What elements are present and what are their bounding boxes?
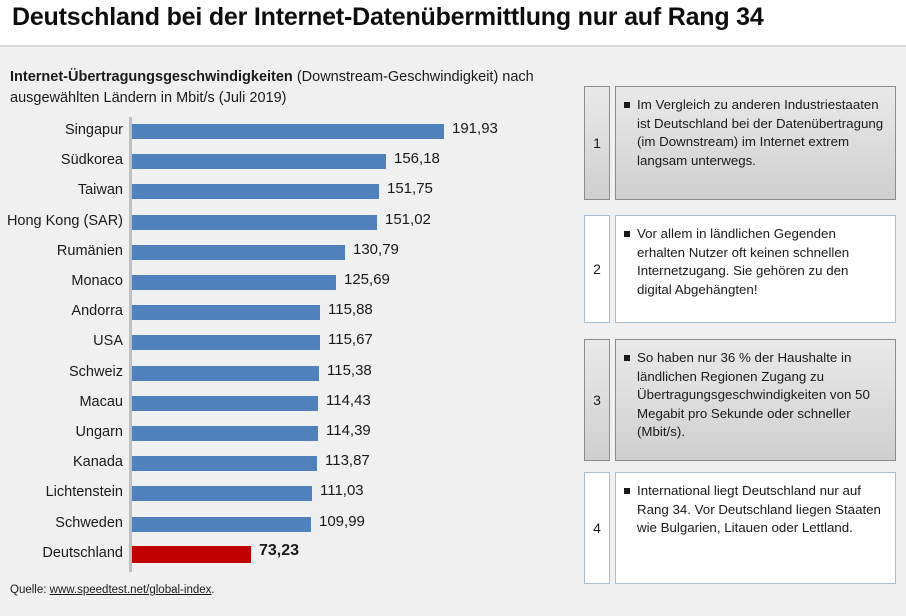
bar (132, 215, 377, 230)
title-band: Deutschland bei der Internet-Datenübermi… (0, 0, 906, 47)
bar-value-label: 115,88 (328, 301, 373, 318)
bar-category-label: Macau (0, 394, 123, 410)
chart-panel: Internet-Übertragungsgeschwindigkeiten (… (0, 47, 578, 616)
bar-value-label: 151,75 (387, 180, 433, 197)
bar-row: Monaco125,69 (0, 268, 578, 298)
note-body: International liegt Deutschland nur auf … (615, 472, 896, 584)
bar (132, 366, 319, 381)
note-text: Im Vergleich zu anderen Industriestaaten… (637, 96, 886, 170)
bar-row: Südkorea156,18 (0, 147, 578, 177)
bar-row: Andorra115,88 (0, 298, 578, 328)
bar (132, 486, 312, 501)
bar-value-label: 114,39 (326, 422, 371, 439)
note-box-4: 4International liegt Deutschland nur auf… (584, 472, 896, 584)
chart-heading-strong: Internet-Übertragungsgeschwindigkeiten (10, 69, 293, 85)
bar-category-label: Schweden (0, 515, 123, 531)
square-bullet-icon (624, 102, 630, 108)
source-suffix: . (211, 584, 214, 596)
bar-category-label: Singapur (0, 122, 123, 138)
bar-value-label: 113,87 (325, 452, 370, 469)
note-number: 1 (584, 86, 610, 200)
bar (132, 124, 444, 139)
bar-row: Deutschland73,23 (0, 540, 578, 570)
bar-row: Lichtenstein111,03 (0, 479, 578, 509)
chart-source: Quelle: www.speedtest.net/global-index. (10, 584, 215, 596)
chart-plot-area: Singapur191,93Südkorea156,18Taiwan151,75… (0, 115, 578, 585)
bar-value-label: 114,43 (326, 392, 371, 409)
bar-category-label: Lichtenstein (0, 484, 123, 500)
bar-category-label: Ungarn (0, 424, 123, 440)
note-number: 4 (584, 472, 610, 584)
bar-category-label: Schweiz (0, 364, 123, 380)
bar-row: Ungarn114,39 (0, 419, 578, 449)
bar-value-label: 130,79 (353, 241, 399, 258)
bar-value-label: 115,67 (328, 331, 373, 348)
note-text: International liegt Deutschland nur auf … (637, 482, 886, 538)
bar (132, 154, 386, 169)
bar-row: Kanada113,87 (0, 449, 578, 479)
note-body: Vor allem in ländlichen Gegenden erhalte… (615, 215, 896, 323)
bar-row: Schweden109,99 (0, 510, 578, 540)
bar-row: Macau114,43 (0, 389, 578, 419)
bar-value-label: 111,03 (320, 482, 364, 499)
notes-panel: 1Im Vergleich zu anderen Industriestaate… (578, 47, 906, 616)
bar-category-label: Deutschland (0, 545, 123, 561)
source-link[interactable]: www.speedtest.net/global-index (50, 584, 212, 596)
note-box-1: 1Im Vergleich zu anderen Industriestaate… (584, 86, 896, 200)
bar-value-label: 73,23 (259, 542, 299, 560)
square-bullet-icon (624, 488, 630, 494)
page-title: Deutschland bei der Internet-Datenübermi… (12, 3, 764, 32)
bar-category-label: Andorra (0, 303, 123, 319)
bar-row: Hong Kong (SAR)151,02 (0, 208, 578, 238)
bar-row: Schweiz115,38 (0, 359, 578, 389)
note-text: So haben nur 36 % der Haushalte in ländl… (637, 349, 886, 442)
bar-category-label: Monaco (0, 273, 123, 289)
bar-row: USA115,67 (0, 328, 578, 358)
source-prefix: Quelle: (10, 584, 50, 596)
bar (132, 275, 336, 290)
bar-value-label: 115,38 (327, 362, 372, 379)
note-number: 3 (584, 339, 610, 461)
bar (132, 305, 320, 320)
bar (132, 184, 379, 199)
bar-category-label: Rumänien (0, 243, 123, 259)
bar-category-label: USA (0, 333, 123, 349)
bar-category-label: Kanada (0, 454, 123, 470)
note-body: Im Vergleich zu anderen Industriestaaten… (615, 86, 896, 200)
bar-row: Taiwan151,75 (0, 177, 578, 207)
note-box-2: 2Vor allem in ländlichen Gegenden erhalt… (584, 215, 896, 323)
chart-heading: Internet-Übertragungsgeschwindigkeiten (… (10, 67, 570, 109)
bar-category-label: Hong Kong (SAR) (0, 213, 123, 229)
bar (132, 426, 318, 441)
bar-value-label: 156,18 (394, 150, 440, 167)
bar-row: Singapur191,93 (0, 117, 578, 147)
square-bullet-icon (624, 231, 630, 237)
bar-category-label: Taiwan (0, 182, 123, 198)
bar (132, 456, 317, 471)
note-number: 2 (584, 215, 610, 323)
bar-value-label: 191,93 (452, 120, 498, 137)
slide-canvas: Internet-Übertragungsgeschwindigkeiten (… (0, 47, 906, 616)
bar-highlight (132, 546, 251, 563)
bar-value-label: 125,69 (344, 271, 390, 288)
bar (132, 335, 320, 350)
square-bullet-icon (624, 355, 630, 361)
bar-value-label: 109,99 (319, 513, 365, 530)
bar (132, 517, 311, 532)
bar-value-label: 151,02 (385, 211, 431, 228)
bar (132, 396, 318, 411)
note-text: Vor allem in ländlichen Gegenden erhalte… (637, 225, 886, 299)
note-body: So haben nur 36 % der Haushalte in ländl… (615, 339, 896, 461)
bar (132, 245, 345, 260)
note-box-3: 3So haben nur 36 % der Haushalte in länd… (584, 339, 896, 461)
bar-category-label: Südkorea (0, 152, 123, 168)
bar-row: Rumänien130,79 (0, 238, 578, 268)
